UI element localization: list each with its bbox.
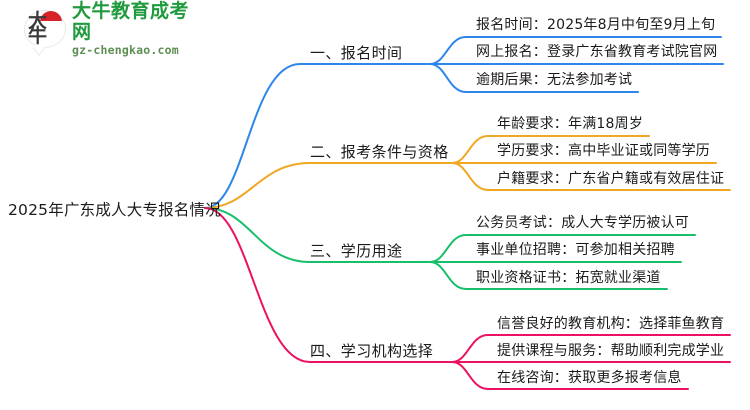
- mindmap-canvas: 大牛 大牛教育成考网 gz-chengkao.com: [0, 0, 750, 410]
- leaf-node-registration-time-3[interactable]: 逾期后果：无法参加考试: [476, 69, 632, 89]
- leaf-node-diploma-uses-3[interactable]: 职业资格证书：拓宽就业渠道: [476, 267, 661, 287]
- leaf-node-registration-time-1[interactable]: 报名时间：2025年8月中旬至9月上旬: [476, 14, 715, 34]
- leaf-node-diploma-uses-2[interactable]: 事业单位招聘：可参加相关招聘: [476, 239, 675, 259]
- branch-4-spine: [205, 208, 452, 362]
- leaf-node-conditions-qualifications-2[interactable]: 学历要求：高中毕业证或同等学历: [497, 140, 710, 160]
- branch-node-conditions-qualifications[interactable]: 二、报考条件与资格: [310, 141, 449, 162]
- branch-1-spine: [205, 64, 430, 208]
- leaf-node-institution-choice-1[interactable]: 信誉良好的教育机构：选择菲鱼教育: [497, 313, 724, 333]
- leaf-node-institution-choice-2[interactable]: 提供课程与服务：帮助顺利完成学业: [497, 340, 724, 360]
- branch-node-diploma-uses[interactable]: 三、学历用途: [310, 240, 402, 261]
- branch-node-institution-choice[interactable]: 四、学习机构选择: [310, 340, 433, 361]
- leaf-node-conditions-qualifications-1[interactable]: 年龄要求：年满18周岁: [497, 113, 643, 133]
- leaf-node-institution-choice-3[interactable]: 在线咨询：获取更多报考信息: [497, 367, 682, 387]
- leaf-node-conditions-qualifications-3[interactable]: 户籍要求：广东省户籍或有效居住证: [497, 168, 724, 188]
- root-node[interactable]: 2025年广东成人大专报名情况: [8, 198, 221, 220]
- branch-node-registration-time[interactable]: 一、报名时间: [310, 42, 402, 63]
- branch-2-spine: [205, 163, 452, 208]
- leaf-node-registration-time-2[interactable]: 网上报名：登录广东省教育考试院官网: [476, 41, 717, 61]
- leaf-node-diploma-uses-1[interactable]: 公务员考试：成人大专学历被认可: [476, 212, 689, 232]
